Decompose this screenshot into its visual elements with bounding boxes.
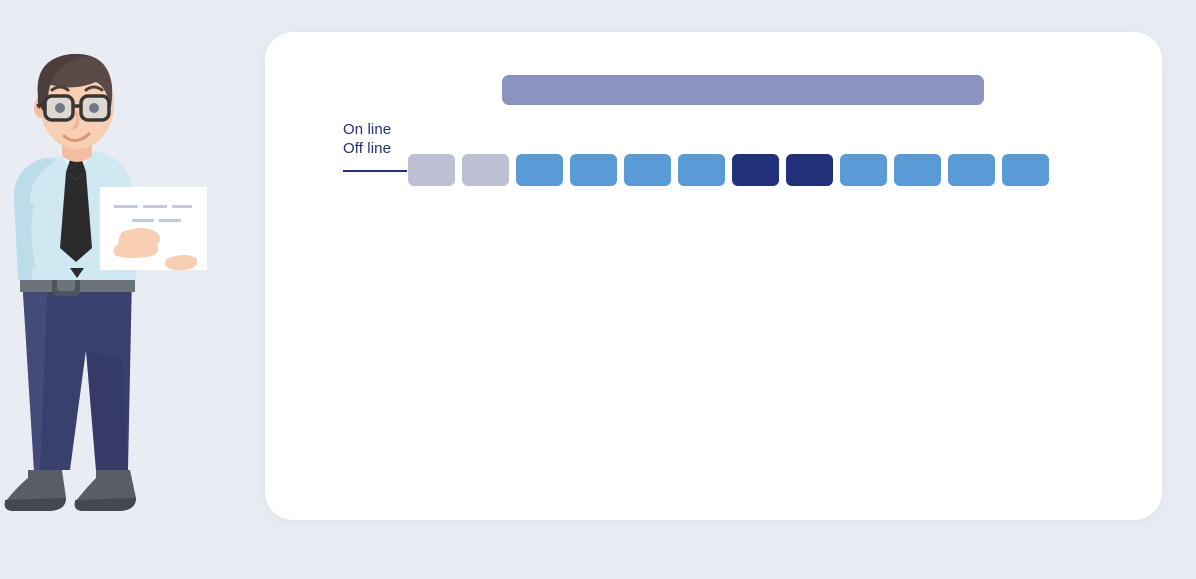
axis-divider-line	[343, 170, 407, 172]
card-line	[143, 205, 167, 208]
card-line	[159, 219, 181, 222]
timeline-block-1[interactable]	[408, 154, 455, 186]
axis-label-group: On line Off line	[343, 120, 451, 158]
axis-label-on-line: On line	[343, 120, 451, 139]
timeline-blocks-row	[408, 154, 1049, 186]
presenter-illustration	[0, 0, 240, 574]
glasses-icon	[37, 96, 109, 120]
card-line	[114, 205, 138, 208]
timeline-block-7[interactable]	[732, 154, 779, 186]
content-panel: On line Off line	[265, 32, 1162, 520]
online-offline-timeline: On line Off line	[265, 120, 1162, 200]
trousers-shape	[22, 276, 132, 470]
timeline-block-8[interactable]	[786, 154, 833, 186]
timeline-block-5[interactable]	[624, 154, 671, 186]
timeline-block-2[interactable]	[462, 154, 509, 186]
timeline-block-11[interactable]	[948, 154, 995, 186]
timeline-block-4[interactable]	[570, 154, 617, 186]
title-placeholder-bar	[502, 75, 984, 105]
timeline-block-6[interactable]	[678, 154, 725, 186]
shoes-shape	[5, 470, 136, 511]
timeline-block-12[interactable]	[1002, 154, 1049, 186]
timeline-block-10[interactable]	[894, 154, 941, 186]
head-shape	[34, 54, 114, 149]
timeline-block-3[interactable]	[516, 154, 563, 186]
card-line	[132, 219, 154, 222]
timeline-block-9[interactable]	[840, 154, 887, 186]
card-line	[172, 205, 192, 208]
